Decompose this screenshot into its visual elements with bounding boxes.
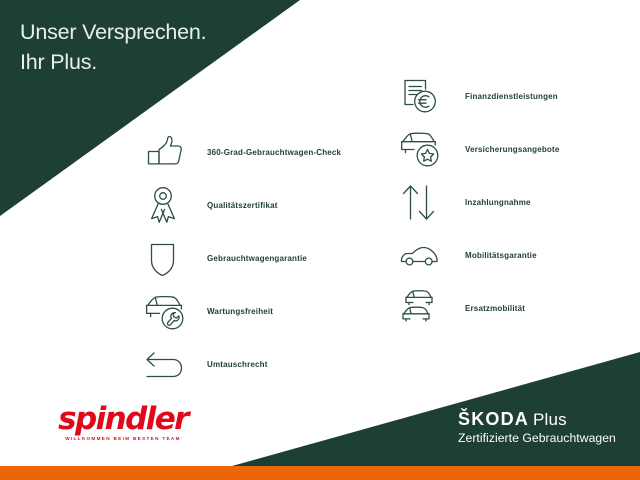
page-title: Unser Versprechen. Ihr Plus. [20,17,206,77]
dealer-wordmark: spindler [38,404,208,434]
document-euro-icon [399,74,451,120]
feature-label: Mobilitätsgarantie [465,251,537,260]
brand-logo-row: ŠKODAPlus [458,410,616,430]
feature-label: Gebrauchtwagengarantie [207,254,307,263]
promo-banner: Unser Versprechen. Ihr Plus. 360-Grad-Ge… [0,0,640,480]
feature-item-360-grad-check: 360-Grad-Gebrauchtwagen-Check [143,126,341,179]
feature-label: Qualitätszertifikat [207,201,278,210]
feature-label: Finanzdienstleistungen [465,92,558,101]
feature-item-ersatzmobilitaet: Ersatzmobilität [399,282,559,335]
feature-item-gebrauchtwagengarantie: Gebrauchtwagengarantie [143,232,341,285]
up-down-arrows-icon [399,180,451,226]
feature-item-umtauschrecht: Umtauschrecht [143,338,341,391]
brand-logo: ŠKODAPlus Zertifizierte Gebrauchtwagen [458,410,616,446]
shield-icon [143,236,195,282]
feature-label: Inzahlungnahme [465,198,531,207]
brand-plus-label: Plus [533,410,567,429]
feature-item-versicherungsangebote: Versicherungsangebote [399,123,559,176]
feature-label: Wartungsfreiheit [207,307,273,316]
two-cars-icon [399,286,451,332]
orange-bottom-bar [0,466,640,480]
feature-item-wartungsfreiheit: Wartungsfreiheit [143,285,341,338]
car-wrench-icon [143,289,195,335]
feature-item-mobilitaetsgarantie: Mobilitätsgarantie [399,229,559,282]
car-side-icon [399,233,451,279]
feature-label: Ersatzmobilität [465,304,525,313]
feature-item-finanzdienstleistungen: Finanzdienstleistungen [399,70,559,123]
feature-item-qualitaetszertifikat: Qualitätszertifikat [143,179,341,232]
thumbs-up-icon [143,130,195,176]
headline-line-1: Unser Versprechen. [20,20,206,44]
brand-name: ŠKODA [458,409,529,429]
return-arrow-icon [143,342,195,388]
feature-label: Umtauschrecht [207,360,268,369]
dealer-logo: spindler WILLKOMMEN BEIM BESTEN TEAM [38,404,208,441]
feature-item-inzahlungnahme: Inzahlungnahme [399,176,559,229]
feature-list-left: 360-Grad-Gebrauchtwagen-Check Qualitätsz… [143,126,341,391]
brand-subline: Zertifizierte Gebrauchtwagen [458,430,616,446]
headline-line-2: Ihr Plus. [20,47,206,77]
feature-list-right: Finanzdienstleistungen Versicherungsange… [399,70,559,335]
feature-label: 360-Grad-Gebrauchtwagen-Check [207,148,341,157]
car-star-icon [399,127,451,173]
feature-label: Versicherungsangebote [465,145,559,154]
award-rosette-icon [143,183,195,229]
